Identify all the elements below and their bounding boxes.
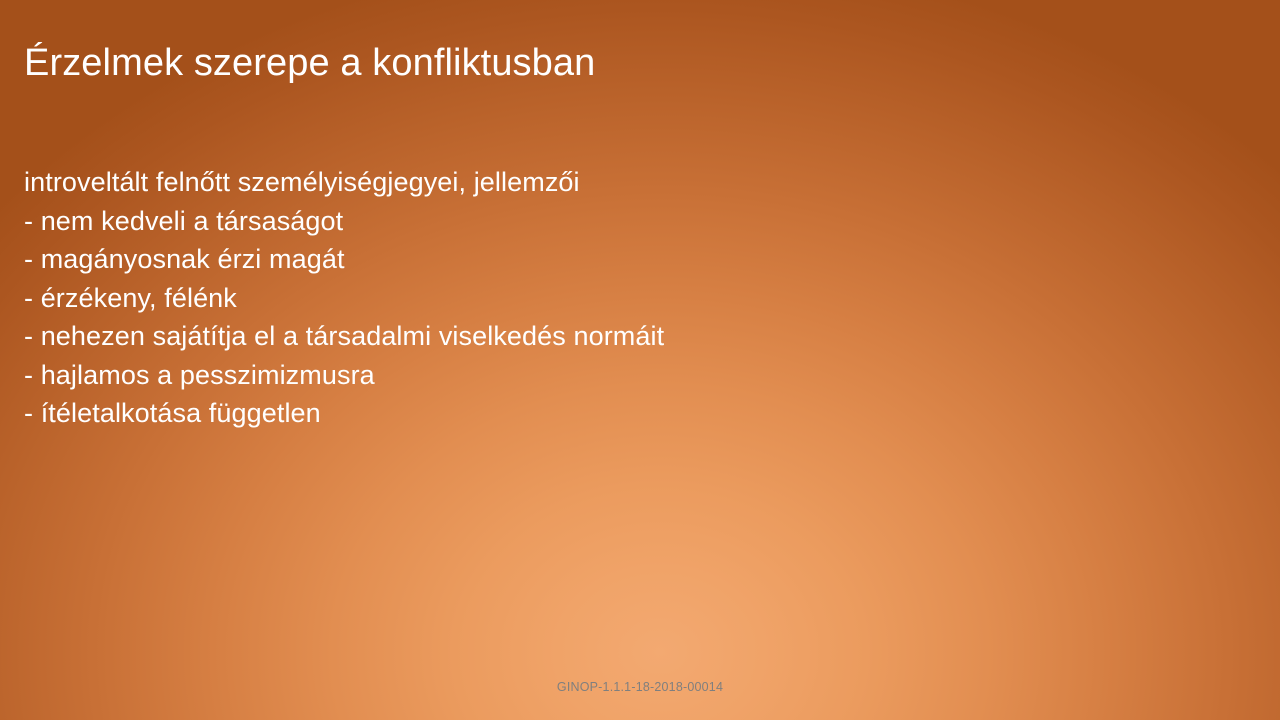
body-line: - ítéletalkotása független [24,394,1204,433]
footer-project-code: GINOP-1.1.1-18-2018-00014 [557,679,723,696]
page-title: Érzelmek szerepe a konfliktusban [24,38,1184,88]
body-line: - érzékeny, félénk [24,279,1204,318]
slide-footer: GINOP-1.1.1-18-2018-00014 [0,678,1280,696]
body-placeholder[interactable]: introveltált felnőtt személyiségjegyei, … [24,163,1204,433]
body-line: introveltált felnőtt személyiségjegyei, … [24,163,1204,202]
body-line: - magányosnak érzi magát [24,240,1204,279]
title-placeholder[interactable]: Érzelmek szerepe a konfliktusban [24,38,1184,88]
presentation-slide: Érzelmek szerepe a konfliktusban introve… [0,0,1280,720]
body-line: - nem kedveli a társaságot [24,202,1204,241]
body-line: - hajlamos a pesszimizmusra [24,356,1204,395]
body-line: - nehezen sajátítja el a társadalmi vise… [24,317,1204,356]
slide-content: Érzelmek szerepe a konfliktusban introve… [0,0,1280,720]
